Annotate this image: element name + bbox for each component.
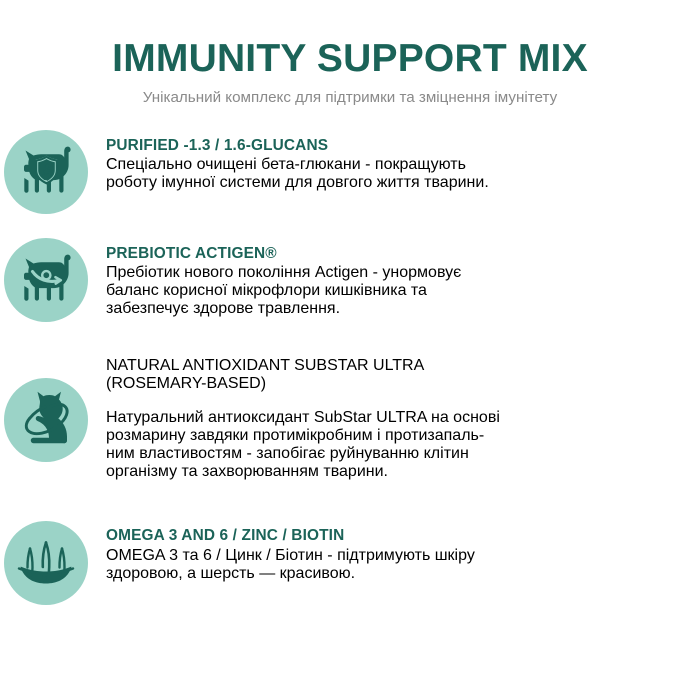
desc-line: розмарину завдяки протимікробним і проти…: [106, 427, 670, 445]
page-subtitle: Унікальний комплекс для підтримки та змі…: [0, 89, 700, 107]
desc-line: організму та захворюванням тварини.: [106, 463, 670, 481]
feature-title: OMEGA 3 AND 6 / ZINC / BIOTIN: [106, 526, 670, 546]
desc-line: здоровою, а шерсть — красивою.: [106, 565, 670, 583]
cat-shield-beta-icon: β: [15, 145, 77, 199]
list-item: PREBIOTIC ACTIGEN® Пребіотик нового поко…: [0, 238, 680, 335]
feature-list: β PURIFIED -1.3 / 1.6-GLUCANS Спеціально…: [0, 130, 700, 606]
desc-line: Спеціально очищені бета-глюкани - покращ…: [106, 156, 670, 174]
desc-line: OMEGA 3 та 6 / Цинк / Біотин - підтримую…: [106, 547, 670, 565]
feature-text: PURIFIED -1.3 / 1.6-GLUCANS Спеціально о…: [92, 130, 680, 209]
feature-icon-wrap: [0, 356, 92, 462]
list-item: β PURIFIED -1.3 / 1.6-GLUCANS Спеціально…: [0, 130, 680, 214]
cat-digestive-arrow-icon: [15, 253, 77, 307]
desc-line: Пребіотик нового покоління Actigen - уно…: [106, 264, 670, 282]
feature-icon-wrap: [0, 519, 92, 605]
feature-title: PREBIOTIC ACTIGEN®: [106, 244, 670, 264]
icon-circle-background: [4, 238, 88, 322]
icon-circle-background: [4, 521, 88, 605]
feature-text: OMEGA 3 AND 6 / ZINC / BIOTIN OMEGA 3 та…: [92, 519, 680, 599]
feature-title-line: (ROSEMARY-BASED): [106, 375, 670, 393]
feature-title: PURIFIED -1.3 / 1.6-GLUCANS: [106, 136, 670, 156]
feature-icon-wrap: β: [0, 130, 92, 214]
desc-line: ним властивостям - запобігає руйнуванню …: [106, 445, 670, 463]
icon-circle-background: [4, 378, 88, 462]
desc-line: роботу імунної системи для довгого життя…: [106, 174, 670, 192]
desc-line: забезпечує здорове травлення.: [106, 300, 670, 318]
desc-line: баланс корисної мікрофлори кишківника та: [106, 282, 670, 300]
list-item: NATURAL ANTIOXIDANT SUBSTAR ULTRA (ROSEM…: [0, 356, 680, 497]
feature-text: NATURAL ANTIOXIDANT SUBSTAR ULTRA (ROSEM…: [92, 356, 680, 497]
feature-title-line: NATURAL ANTIOXIDANT SUBSTAR ULTRA: [106, 357, 670, 375]
feature-icon-wrap: [0, 238, 92, 322]
poster-header: IMMUNITY SUPPORT MIX Унікальний комплекс…: [0, 0, 700, 108]
immunity-support-poster: IMMUNITY SUPPORT MIX Унікальний комплекс…: [0, 0, 700, 700]
cat-antioxidant-swirl-icon: [16, 391, 76, 449]
page-title: IMMUNITY SUPPORT MIX: [0, 38, 700, 79]
icon-circle-background: β: [4, 130, 88, 214]
desc-line: Натуральний антиоксидант SubStar ULTRA н…: [106, 409, 670, 427]
list-item: OMEGA 3 AND 6 / ZINC / BIOTIN OMEGA 3 та…: [0, 519, 680, 605]
feature-text: PREBIOTIC ACTIGEN® Пребіотик нового поко…: [92, 238, 680, 335]
hair-follicle-skin-icon: [15, 536, 77, 590]
beta-glyph: β: [42, 161, 51, 178]
